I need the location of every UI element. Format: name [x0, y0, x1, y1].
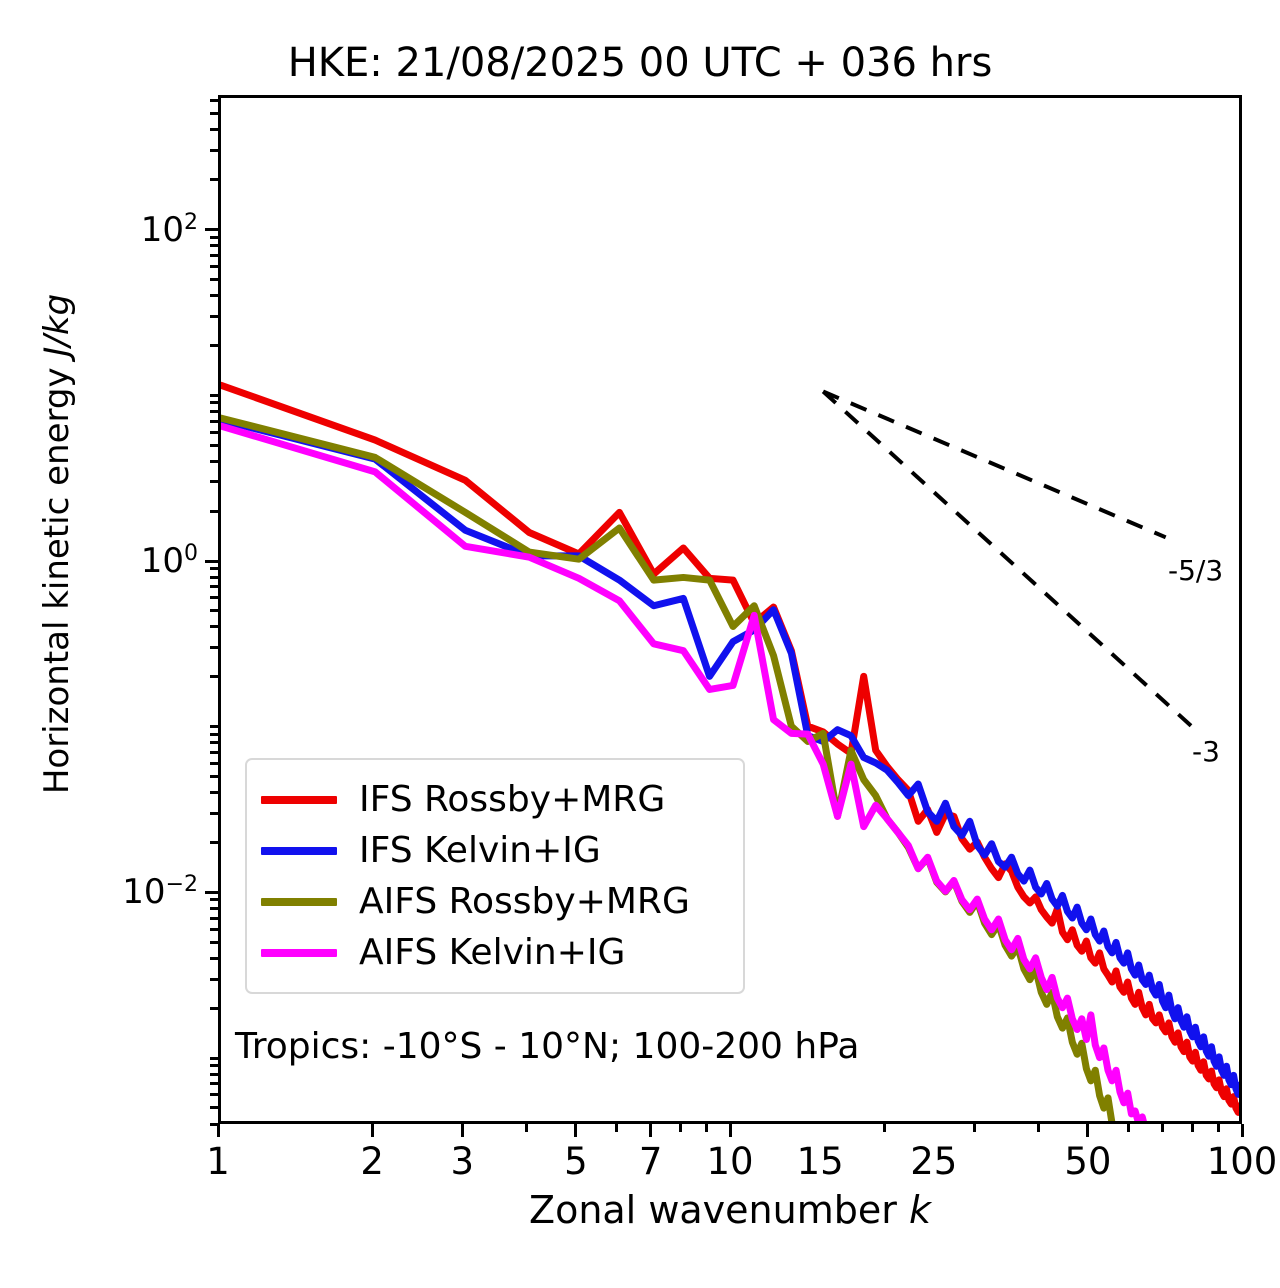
x-tick-label: 1	[206, 1140, 230, 1183]
y-tick-minor	[210, 725, 218, 728]
y-tick-minor	[210, 1123, 218, 1126]
y-tick-major	[205, 228, 218, 231]
y-tick-minor	[210, 444, 218, 447]
y-tick-minor	[210, 957, 218, 960]
x-tick-major	[1086, 1124, 1089, 1137]
y-tick-major	[205, 560, 218, 563]
reference-lines-layer	[823, 392, 1195, 730]
y-tick-minor	[210, 596, 218, 599]
x-axis-label-symbol: k	[909, 1188, 931, 1232]
x-tick-label: 7	[639, 1140, 663, 1183]
y-tick-minor	[210, 112, 218, 115]
x-tick-label: 100	[1207, 1140, 1278, 1183]
legend-item-0[interactable]: IFS Rossby+MRG	[261, 774, 727, 825]
y-tick-exponent: −2	[166, 872, 198, 897]
y-tick-minor	[210, 675, 218, 678]
x-tick-minor	[679, 1124, 682, 1132]
x-tick-minor	[1127, 1124, 1130, 1132]
x-tick-label: 25	[910, 1140, 957, 1183]
y-tick-label: 102	[141, 210, 198, 250]
x-axis-label-text: Zonal wavenumber	[529, 1188, 909, 1232]
y-tick-minor	[210, 254, 218, 257]
y-tick-minor	[210, 791, 218, 794]
x-tick-minor	[615, 1124, 618, 1132]
legend-item-3[interactable]: AIFS Kelvin+IG	[261, 927, 727, 978]
y-axis-label: Horizontal kinetic energy J/kg	[37, 94, 77, 994]
x-axis-label: Zonal wavenumber k	[218, 1188, 1242, 1232]
x-tick-label: 50	[1064, 1140, 1111, 1183]
legend-item-label: IFS Rossby+MRG	[359, 782, 665, 818]
x-tick-minor	[705, 1124, 708, 1132]
y-tick-minor	[210, 278, 218, 281]
y-tick-minor	[210, 907, 218, 910]
y-tick-minor	[210, 1106, 218, 1109]
y-tick-minor	[210, 576, 218, 579]
x-tick-label: 2	[360, 1140, 384, 1183]
y-tick-minor	[210, 265, 218, 268]
y-tick-minor	[210, 1093, 218, 1096]
y-tick-minor	[210, 420, 218, 423]
y-tick-minor	[210, 898, 218, 901]
y-tick-base: 10	[122, 873, 165, 913]
legend-color-swatch	[261, 949, 337, 957]
x-tick-minor	[525, 1124, 528, 1132]
y-tick-base: 10	[141, 541, 184, 581]
slope-label-3: -3	[1192, 735, 1220, 768]
y-tick-exponent: 2	[184, 210, 198, 235]
y-tick-minor	[210, 149, 218, 152]
reference-line--3	[823, 392, 1195, 730]
y-tick-minor	[210, 941, 218, 944]
x-tick-label: 5	[564, 1140, 588, 1183]
x-tick-label: 10	[706, 1140, 753, 1183]
y-tick-minor	[210, 741, 218, 744]
y-tick-minor	[210, 841, 218, 844]
x-tick-minor	[973, 1124, 976, 1132]
y-tick-minor	[210, 978, 218, 981]
y-axis-label-units: J/kg	[37, 294, 77, 357]
y-tick-minor	[210, 733, 218, 736]
x-tick-major	[649, 1124, 652, 1137]
y-tick-minor	[210, 460, 218, 463]
x-tick-minor	[883, 1124, 886, 1132]
y-tick-label: 100	[141, 541, 198, 581]
y-tick-minor	[210, 812, 218, 815]
y-tick-minor	[210, 510, 218, 513]
x-tick-major	[729, 1124, 732, 1137]
y-tick-minor	[210, 1082, 218, 1085]
y-tick-minor	[210, 244, 218, 247]
slope-label-53: -5/3	[1168, 554, 1223, 587]
y-tick-minor	[210, 344, 218, 347]
y-tick-minor	[210, 394, 218, 397]
y-tick-minor	[210, 431, 218, 434]
y-tick-minor	[210, 1007, 218, 1010]
y-tick-base: 10	[141, 210, 184, 250]
chart-title: HKE: 21/08/2025 00 UTC + 036 hrs	[0, 40, 1280, 86]
y-tick-minor	[210, 294, 218, 297]
legend-item-1[interactable]: IFS Kelvin+IG	[261, 825, 727, 876]
y-tick-minor	[210, 178, 218, 181]
y-axis-label-text: Horizontal kinetic energy	[37, 357, 77, 795]
x-tick-major	[1241, 1124, 1244, 1137]
y-tick-minor	[210, 751, 218, 754]
reference-line--5-3	[823, 392, 1166, 538]
y-tick-minor	[210, 480, 218, 483]
x-tick-label: 15	[797, 1140, 844, 1183]
y-tick-minor	[210, 775, 218, 778]
y-tick-minor	[210, 99, 218, 102]
x-tick-minor	[1161, 1124, 1164, 1132]
y-tick-label: 10−2	[122, 872, 198, 912]
x-tick-minor	[1037, 1124, 1040, 1132]
legend-item-label: AIFS Rossby+MRG	[359, 884, 690, 920]
y-tick-minor	[210, 1073, 218, 1076]
y-tick-minor	[210, 410, 218, 413]
y-tick-minor	[210, 625, 218, 628]
x-tick-label: 3	[451, 1140, 475, 1183]
legend-item-2[interactable]: AIFS Rossby+MRG	[261, 876, 727, 927]
y-tick-minor	[210, 609, 218, 612]
y-tick-minor	[210, 567, 218, 570]
region-annotation: Tropics: -10°S - 10°N; 100-200 hPa	[235, 1026, 859, 1067]
x-tick-major	[371, 1124, 374, 1137]
y-tick-minor	[210, 585, 218, 588]
x-tick-minor	[1191, 1124, 1194, 1132]
x-tick-major	[217, 1124, 220, 1137]
chart-figure: HKE: 21/08/2025 00 UTC + 036 hrs Horizon…	[0, 0, 1280, 1288]
y-tick-minor	[210, 236, 218, 239]
y-tick-exponent: 0	[184, 541, 198, 566]
y-tick-minor	[210, 128, 218, 131]
y-tick-minor	[210, 646, 218, 649]
y-tick-minor	[210, 401, 218, 404]
legend-color-swatch	[261, 796, 337, 804]
x-tick-major	[574, 1124, 577, 1137]
chart-legend: IFS Rossby+MRGIFS Kelvin+IGAIFS Rossby+M…	[245, 758, 745, 994]
y-tick-minor	[210, 1057, 218, 1060]
y-tick-minor	[210, 1064, 218, 1067]
series-layer	[221, 385, 1242, 1124]
y-tick-minor	[210, 762, 218, 765]
legend-item-label: AIFS Kelvin+IG	[359, 935, 625, 971]
x-tick-major	[461, 1124, 464, 1137]
y-tick-minor	[210, 928, 218, 931]
y-tick-minor	[210, 917, 218, 920]
legend-color-swatch	[261, 847, 337, 855]
legend-item-label: IFS Kelvin+IG	[359, 833, 601, 869]
legend-color-swatch	[261, 898, 337, 906]
x-tick-minor	[1217, 1124, 1220, 1132]
y-tick-minor	[210, 315, 218, 318]
series-line-0	[221, 385, 1242, 1115]
y-tick-major	[205, 891, 218, 894]
